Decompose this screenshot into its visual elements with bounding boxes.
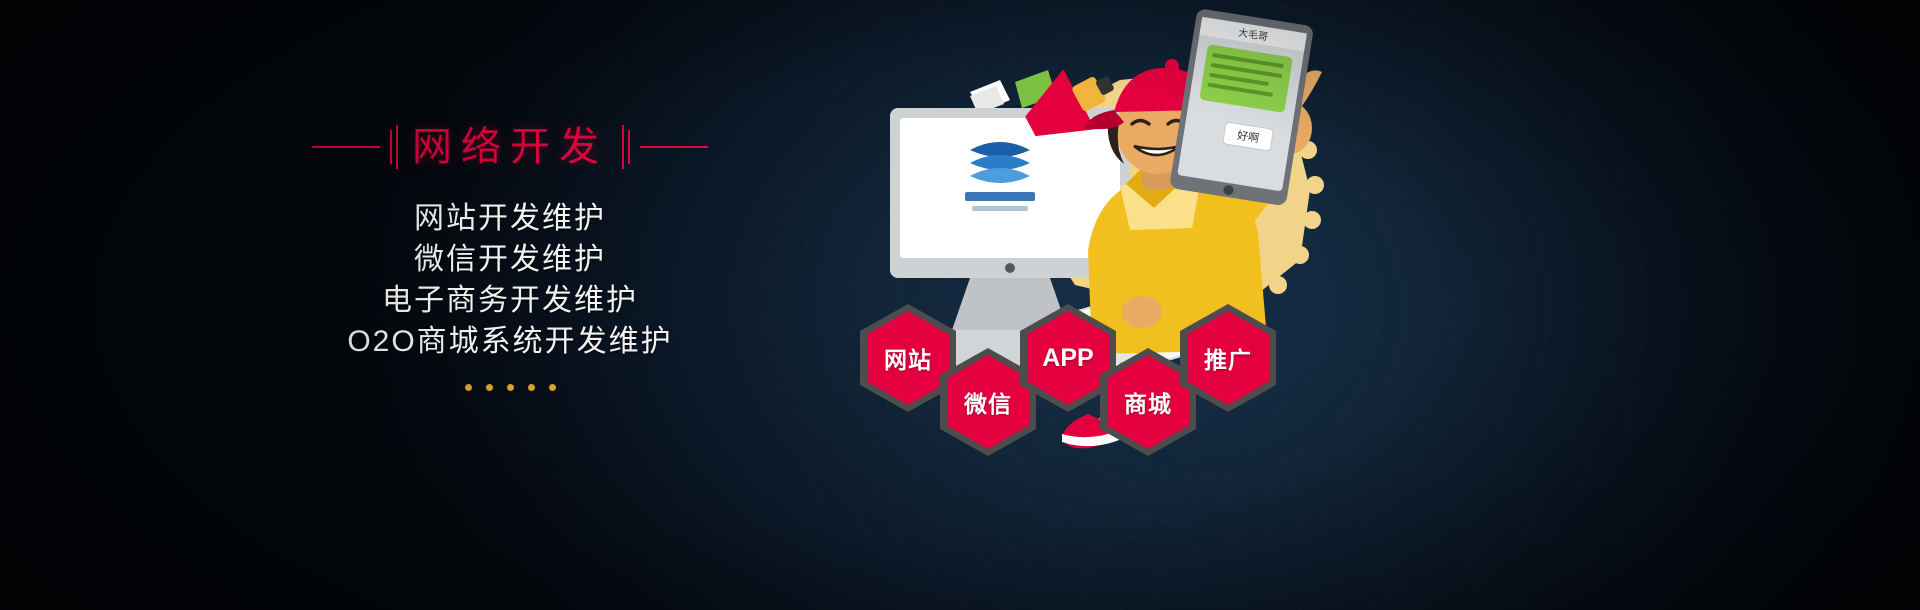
decorative-dots — [300, 384, 720, 391]
dot — [549, 384, 556, 391]
hex-badge-label: 推广 — [1180, 304, 1276, 412]
subtitle-line: O2O商城系统开发维护 — [300, 321, 720, 362]
headline-rule-left — [312, 146, 380, 148]
subtitle-line: 网站开发维护 — [300, 198, 720, 239]
page-title: 网络开发 — [408, 127, 612, 167]
subtitle-list: 网站开发维护 微信开发维护 电子商务开发维护 O2O商城系统开发维护 — [300, 198, 720, 362]
headline-bars-left — [390, 125, 398, 169]
headline-rule-right — [640, 146, 708, 148]
dot — [507, 384, 514, 391]
illustration: 大毛哥 好啊 — [820, 0, 1420, 540]
subtitle-line: 电子商务开发维护 — [300, 280, 720, 321]
promo-banner: 网络开发 网站开发维护 微信开发维护 电子商务开发维护 O2O商城系统开发维护 — [0, 0, 1920, 610]
hex-badge-group: 网站 微信 APP 商城 推广 — [860, 300, 1320, 440]
headline-bars-right — [622, 125, 630, 169]
dot — [528, 384, 535, 391]
dot — [465, 384, 472, 391]
headline-row: 网络开发 — [300, 118, 720, 176]
text-block: 网络开发 网站开发维护 微信开发维护 电子商务开发维护 O2O商城系统开发维护 — [300, 118, 720, 391]
hex-badge-promotion[interactable]: 推广 — [1180, 304, 1276, 412]
dot — [486, 384, 493, 391]
subtitle-line: 微信开发维护 — [300, 239, 720, 280]
